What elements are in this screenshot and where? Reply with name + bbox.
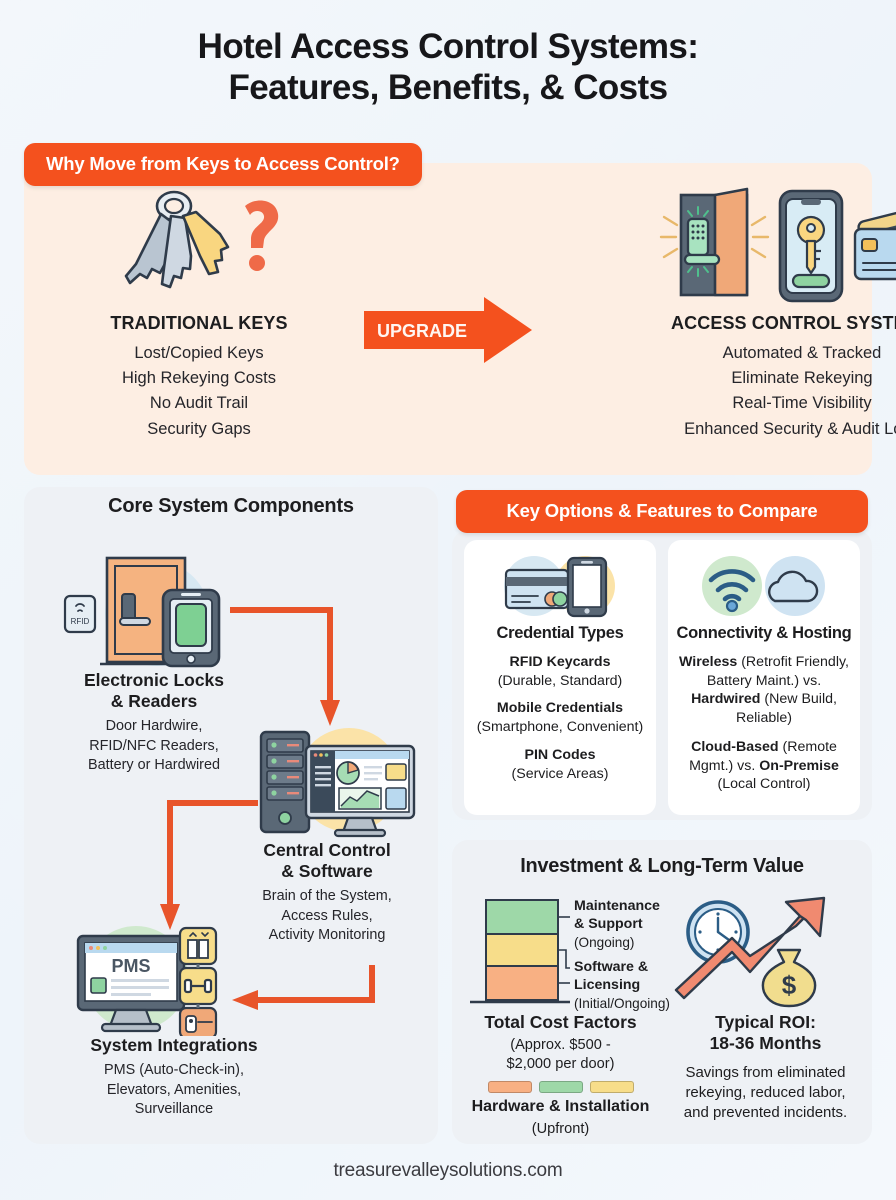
list-item: Eliminate Rekeying [602,366,896,391]
core-node-locks-desc: Door Hardwire, RFID/NFC Readers, Battery… [34,717,274,776]
connectivity-hosting-icons [676,552,852,620]
list-item: No Audit Trail [34,391,364,416]
mobile-key-icon [780,191,842,301]
list-item: Security Gaps [34,417,364,442]
investment-title: Investment & Long-Term Value [452,855,872,878]
server-dashboard-icon [253,722,425,843]
investment-legend: Maintenance & Support (Ongoing) Software… [574,890,670,1020]
swatch-maintenance [539,1081,583,1093]
legend-sub: (Ongoing) [574,934,670,951]
core-node-integrations-desc: PMS (Auto-Check-in), Elevators, Amenitie… [24,1061,324,1120]
credential-types-card: Credential Types RFID Keycards (Durable,… [464,540,656,815]
connectivity-hosting-card: Connectivity & Hosting Wireless (Retrofi… [668,540,860,815]
credential-types-icons [472,552,648,620]
list-item: PIN Codes (Service Areas) [472,746,648,783]
legend-sub: (Initial/Ongoing) [574,995,670,1012]
list-item: Mobile Credentials (Smartphone, Convenie… [472,699,648,736]
traditional-keys-list: Lost/Copied Keys High Rekeying Costs No … [34,341,364,442]
hardware-install-sub: (Upfront) [458,1120,663,1139]
cost-swatches [458,1081,663,1093]
key-options-badge-wrap: Key Options & Features to Compare [456,490,868,533]
connectivity-hosting-title: Connectivity & Hosting [676,624,852,643]
total-cost-sub: (Approx. $500 - $2,000 per door) [458,1036,663,1075]
list-item: Wireless (Retrofit Friendly, Battery Mai… [676,653,852,728]
credential-types-rows: RFID Keycards (Durable, Standard) Mobile… [472,653,648,783]
access-control-column: ACCESS CONTROL SYSTEMS Automated & Track… [602,163,896,442]
roi-body: Savings from eliminated rekeying, reduce… [663,1063,868,1122]
core-node-integrations: System Integrations PMS (Auto-Check-in),… [24,1035,324,1120]
keycard-icon [855,203,896,279]
connectivity-hosting-rows: Wireless (Retrofit Friendly, Battery Mai… [676,653,852,794]
investment-top-row: Maintenance & Support (Ongoing) Software… [460,890,864,1010]
money-bag-icon: $ [763,950,815,1006]
why-move-content: TRADITIONAL KEYS Lost/Copied Keys High R… [24,163,872,475]
core-node-locks-name: Electronic Locks & Readers [34,670,274,712]
roi-column: Typical ROI: 18-36 Months Savings from e… [663,1012,868,1139]
pms-monitor-icon: PMS [60,918,240,1041]
credit-card-icon [506,570,568,608]
page-title-line-2: Features, Benefits, & Costs [0,67,896,108]
core-node-central: Central Control & Software Brain of the … [222,840,432,946]
list-item: Lost/Copied Keys [34,341,364,366]
door-lock-reader-icon: RFID [52,552,242,675]
swatch-hardware [488,1081,532,1093]
access-control-list: Automated & Tracked Eliminate Rekeying R… [602,341,896,442]
list-item: Automated & Tracked [602,341,896,366]
legend-item: Software & Licensing (Initial/Ongoing) [574,959,670,1012]
investment-bottom-row: Total Cost Factors (Approx. $500 - $2,00… [458,1012,868,1139]
upgrade-label: UPGRADE [377,321,467,341]
clock-growth-arrow-money-bag-icon: $ [674,890,844,1008]
total-cost-column: Total Cost Factors (Approx. $500 - $2,00… [458,1012,663,1139]
stacked-bar-icon [460,890,570,1008]
upgrade-arrow-wrap: UPGRADE [364,297,532,363]
key-ring-icon [34,187,364,305]
roi-heading: Typical ROI: 18-36 Months [663,1012,868,1053]
core-node-locks: Electronic Locks & Readers Door Hardwire… [34,670,274,776]
traditional-keys-heading: TRADITIONAL KEYS [34,313,364,334]
list-item: Enhanced Security & Audit Logs [602,417,896,442]
key-options-badge: Key Options & Features to Compare [456,490,868,533]
why-move-badge-wrap: Why Move from Keys to Access Control? [24,143,422,186]
core-node-integrations-name: System Integrations [24,1035,324,1056]
list-item: High Rekeying Costs [34,366,364,391]
legend-item: Maintenance & Support (Ongoing) [574,898,670,951]
swatch-software [590,1081,634,1093]
smart-door-lock-icon [661,189,768,295]
why-move-badge: Why Move from Keys to Access Control? [24,143,422,186]
list-item: RFID Keycards (Durable, Standard) [472,653,648,690]
total-cost-heading: Total Cost Factors [458,1012,663,1033]
credential-types-title: Credential Types [472,624,648,643]
upgrade-arrow-icon: UPGRADE [364,297,532,363]
access-control-icons [602,187,896,305]
footer-url: treasurevalleysolutions.com [0,1160,896,1182]
smartphone-icon [568,558,606,616]
list-item: Real-Time Visibility [602,391,896,416]
core-components-title: Core System Components [24,495,438,518]
key-options-cards: Credential Types RFID Keycards (Durable,… [452,540,872,815]
list-item: Cloud-Based (Remote Mgmt.) vs. On-Premis… [676,738,852,794]
core-node-central-desc: Brain of the System, Access Rules, Activ… [222,887,432,946]
hardware-install-label: Hardware & Installation [458,1098,663,1117]
pms-screen-label: PMS [111,956,150,976]
page-title-line-1: Hotel Access Control Systems: [198,27,699,66]
legend-label: Maintenance & Support [574,898,670,934]
svg-text:$: $ [782,970,797,1000]
core-node-central-name: Central Control & Software [222,840,432,882]
traditional-keys-column: TRADITIONAL KEYS Lost/Copied Keys High R… [34,163,364,442]
access-control-heading: ACCESS CONTROL SYSTEMS [602,313,896,334]
page-title: Hotel Access Control Systems: Features, … [0,0,896,109]
svg-text:RFID: RFID [71,617,90,626]
legend-label: Software & Licensing [574,959,670,995]
